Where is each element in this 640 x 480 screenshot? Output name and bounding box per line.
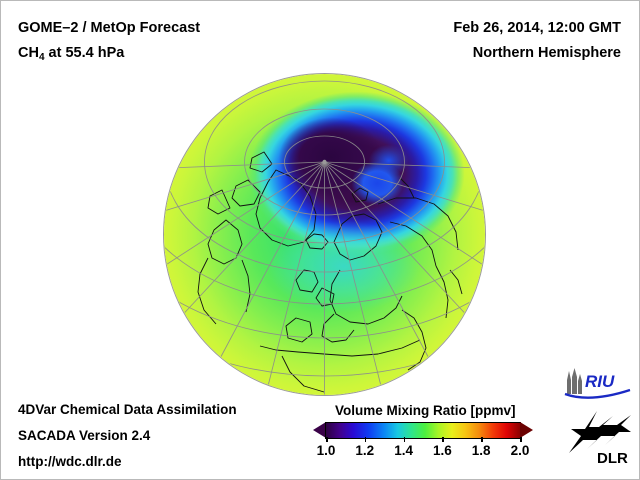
colorbar-tick xyxy=(404,437,406,442)
colorbar-tick xyxy=(481,437,483,442)
species-label: CH xyxy=(18,45,39,61)
riu-logo-text: RIU xyxy=(585,372,615,391)
datetime-label: Feb 26, 2014, 12:00 GMT xyxy=(453,20,621,36)
species-level-subtitle: CH4 at 55.4 hPa xyxy=(18,45,124,61)
dlr-logo-text: DLR xyxy=(597,450,628,467)
globe-map xyxy=(164,74,485,395)
colorbar-extend-high-arrow xyxy=(520,422,533,438)
colorbar-tick xyxy=(365,437,367,442)
colorbar-tick-label: 1.6 xyxy=(433,443,452,458)
colorbar-tick-labels: 1.01.21.41.61.82.0 xyxy=(313,443,533,463)
region-label: Northern Hemisphere xyxy=(473,45,621,61)
colorbar-title: Volume Mixing Ratio [ppmv] xyxy=(335,403,516,418)
dlr-logo: DLR xyxy=(567,409,633,467)
riu-logo: RIU xyxy=(560,368,632,402)
colorbar-tick-label: 1.0 xyxy=(317,443,336,458)
species-subscript: 4 xyxy=(39,52,45,63)
colorbar-tick-label: 2.0 xyxy=(511,443,530,458)
figure-canvas: GOME–2 / MetOp Forecast CH4 at 55.4 hPa … xyxy=(0,0,640,480)
footer-line-2: SACADA Version 2.4 xyxy=(18,428,150,443)
page-title: GOME–2 / MetOp Forecast xyxy=(18,20,200,36)
colorbar-tick-label: 1.8 xyxy=(472,443,491,458)
colorbar-tick xyxy=(326,437,328,442)
footer-line-3[interactable]: http://wdc.dlr.de xyxy=(18,454,122,469)
footer-line-1: 4DVar Chemical Data Assimilation xyxy=(18,402,237,417)
colorbar-tick xyxy=(520,437,522,442)
colorbar-tick xyxy=(442,437,444,442)
colorbar-tick-label: 1.4 xyxy=(394,443,413,458)
colorbar-tick-label: 1.2 xyxy=(355,443,374,458)
limb-shading-layer xyxy=(164,74,485,395)
level-label: at 55.4 hPa xyxy=(45,45,125,61)
